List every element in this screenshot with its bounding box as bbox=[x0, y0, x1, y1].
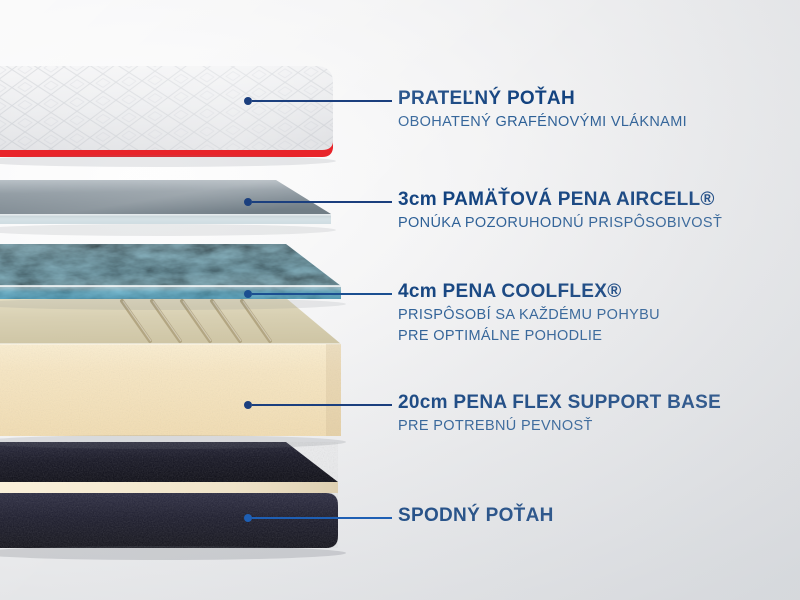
bottom-cover-piping bbox=[0, 482, 338, 493]
callout-subtitle-coolflex-2: PRE OPTIMÁLNE POHODLIE bbox=[398, 326, 660, 347]
support-base-right-bevel bbox=[326, 344, 341, 436]
callout-subtitle-coolflex-1: PRISPÔSOBÍ SA KAŽDÉMU POHYBU bbox=[398, 305, 660, 326]
callout-title-bottom-cover: SPODNÝ POŤAH bbox=[398, 505, 554, 527]
mattress-layer-diagram: The Theatre of Dreams bbox=[0, 0, 800, 600]
bottom-cover-shadow bbox=[0, 546, 346, 560]
callout-title-memory-foam: 3cm PAMÄŤOVÁ PENA AIRCELL® bbox=[398, 189, 722, 211]
callout-subtitle-support-base: PRE POTREBNÚ PEVNOSŤ bbox=[398, 416, 721, 437]
memory-foam-shadow bbox=[0, 224, 336, 236]
callout-title-top-cover: PRATEĽNÝ POŤAH bbox=[398, 88, 687, 110]
coolflex-edge-texture bbox=[0, 286, 341, 299]
support-base-edge-highlight bbox=[0, 343, 341, 345]
coolflex-edge-highlight bbox=[0, 285, 341, 287]
coolflex-shadow bbox=[0, 298, 346, 310]
callout-bottom-cover: SPODNÝ POŤAH bbox=[398, 505, 554, 527]
support-base-grain bbox=[0, 344, 341, 436]
callout-subtitle-memory-foam: PONÚKA POZORUHODNÚ PRISPÔSOBIVOSŤ bbox=[398, 213, 722, 234]
top-cover-highlight bbox=[0, 66, 333, 154]
callout-coolflex: 4cm PENA COOLFLEX® PRISPÔSOBÍ SA KAŽDÉMU… bbox=[398, 281, 660, 347]
support-base-shadow bbox=[0, 435, 346, 449]
layer-memory-foam bbox=[0, 178, 406, 258]
memory-foam-edge-highlight bbox=[0, 214, 331, 216]
memory-foam-gloss bbox=[0, 180, 331, 214]
bottom-cover-body-grain bbox=[0, 493, 338, 548]
layer-top-cover bbox=[0, 62, 406, 172]
callout-memory-foam: 3cm PAMÄŤOVÁ PENA AIRCELL® PONÚKA POZORU… bbox=[398, 189, 722, 234]
callout-support-base: 20cm PENA FLEX SUPPORT BASE PRE POTREBNÚ… bbox=[398, 392, 721, 437]
callout-subtitle-top-cover: OBOHATENÝ GRAFÉNOVÝMI VLÁKNAMI bbox=[398, 112, 687, 133]
callout-title-support-base: 20cm PENA FLEX SUPPORT BASE bbox=[398, 392, 721, 414]
top-cover-red-stripe-flat bbox=[0, 150, 322, 153]
callout-title-coolflex: 4cm PENA COOLFLEX® bbox=[398, 281, 660, 303]
callout-top-cover: PRATEĽNÝ POŤAH OBOHATENÝ GRAFÉNOVÝMI VLÁ… bbox=[398, 88, 687, 133]
